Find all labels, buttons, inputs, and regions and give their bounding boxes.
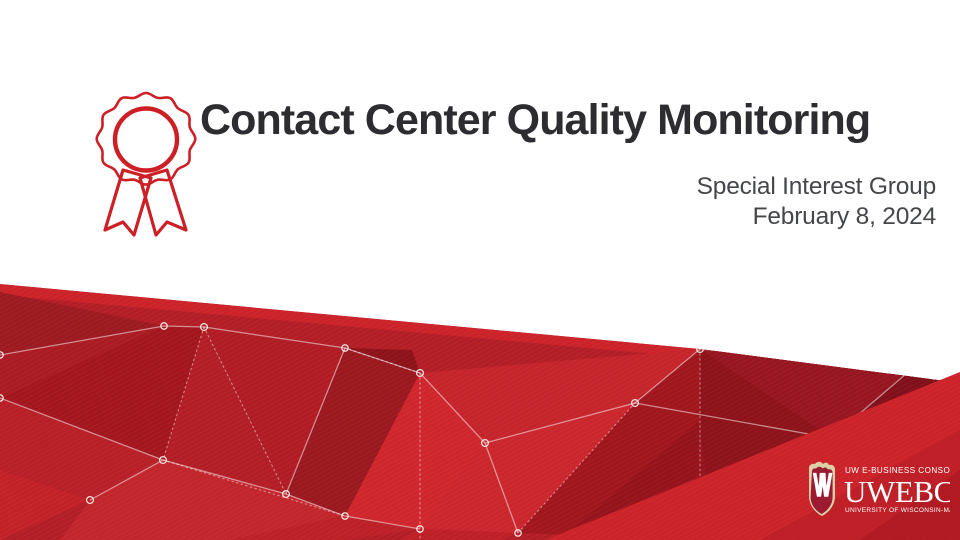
- uwebc-logo: UW E-BUSINESS CONSORTIUM UWEBC UNIVERSIT…: [800, 458, 950, 520]
- subtitle-date: February 8, 2024: [296, 202, 936, 232]
- presentation-slide: Contact Center Quality Monitoring Specia…: [0, 0, 960, 540]
- uwebc-logo-svg: UW E-BUSINESS CONSORTIUM UWEBC UNIVERSIT…: [800, 458, 950, 520]
- title-block: Contact Center Quality Monitoring: [200, 96, 936, 144]
- award-ribbon-icon: [93, 88, 199, 240]
- logo-tagline-bottom: UNIVERSITY OF WISCONSIN-MADISON: [845, 507, 950, 514]
- subtitle-group-name: Special Interest Group: [296, 172, 936, 202]
- page-title: Contact Center Quality Monitoring: [200, 96, 936, 144]
- subtitle-block: Special Interest Group February 8, 2024: [296, 172, 936, 232]
- logo-wordmark: UWEBC: [844, 474, 950, 509]
- uw-crest-icon: [809, 462, 835, 516]
